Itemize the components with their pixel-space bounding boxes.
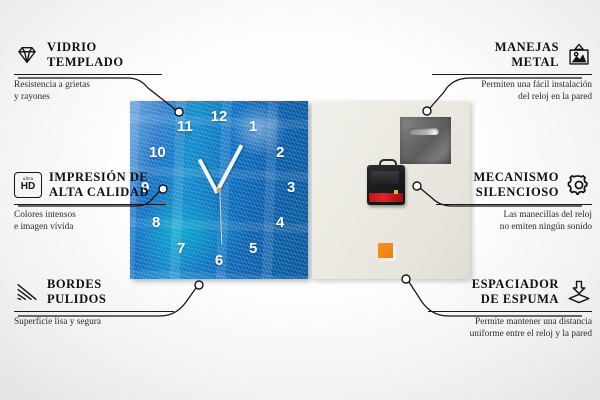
callout-silent-mechanism: MECANISMO SILENCIOSO Las manecillas del …	[436, 170, 592, 233]
callout-foam-spacer: ESPACIADOR DE ESPUMA Permite mantener un…	[428, 277, 592, 340]
clock-numeral-1: 1	[249, 119, 257, 134]
foam-spacer	[378, 243, 393, 258]
callout-divider	[14, 311, 174, 312]
callout-header: BORDES PULIDOS	[14, 277, 174, 307]
clock-numeral-4: 4	[276, 215, 284, 230]
hanging-picture-icon	[566, 42, 592, 68]
clock-center-pin	[217, 188, 222, 193]
polished-edge-lines-icon	[14, 279, 40, 305]
product-images: 12 1 2 3 4 5 6 7 8 9 10 11	[130, 101, 470, 279]
callout-divider	[428, 311, 592, 312]
movement-loop	[379, 159, 397, 169]
callout-divider	[14, 204, 166, 205]
callout-header: VIDRIO TEMPLADO	[14, 40, 162, 70]
clock-numeral-5: 5	[249, 241, 257, 256]
callout-divider	[436, 204, 592, 205]
battery	[369, 193, 403, 202]
hanger-slot	[409, 128, 439, 135]
quartz-movement	[367, 165, 405, 205]
callout-divider	[432, 74, 592, 75]
metal-hanger-icon	[400, 117, 451, 164]
callout-title: BORDES PULIDOS	[47, 277, 106, 307]
ultra-hd-badge-icon: ultra HD	[14, 172, 42, 198]
callout-divider	[14, 74, 162, 75]
clock-numeral-6: 6	[215, 253, 223, 268]
clock-numeral-12: 12	[211, 109, 228, 124]
callout-tempered-glass: VIDRIO TEMPLADO Resistencia a grietas y …	[14, 40, 162, 103]
callout-metal-hooks: MANEJAS METAL Permiten una fácil instala…	[432, 40, 592, 103]
diamond-icon	[14, 42, 40, 68]
clock-numeral-2: 2	[276, 145, 284, 160]
movement-body	[371, 171, 399, 184]
connector-dot-edges	[195, 281, 203, 289]
clock-numeral-11: 11	[177, 119, 193, 134]
callout-title: MANEJAS METAL	[495, 40, 559, 70]
callout-header: MECANISMO SILENCIOSO	[436, 170, 592, 200]
callout-polished-edges: BORDES PULIDOS Superficie lisa y segura	[14, 277, 174, 328]
callout-header: MANEJAS METAL	[432, 40, 592, 70]
callout-title: ESPACIADOR DE ESPUMA	[472, 277, 559, 307]
gear-icon	[566, 172, 592, 198]
callout-title: MECANISMO SILENCIOSO	[473, 170, 559, 200]
clock-numeral-7: 7	[177, 241, 185, 256]
callout-header: ultra HD IMPRESIÓN DE ALTA CALIDAD	[14, 170, 166, 200]
arrow-down-layer-icon	[566, 279, 592, 305]
callout-title: VIDRIO TEMPLADO	[47, 40, 124, 70]
callout-header: ESPACIADOR DE ESPUMA	[428, 277, 592, 307]
clock-numeral-3: 3	[287, 180, 295, 195]
clock-numeral-10: 10	[149, 145, 166, 160]
infographic-stage: 12 1 2 3 4 5 6 7 8 9 10 11	[0, 0, 600, 400]
callout-title: IMPRESIÓN DE ALTA CALIDAD	[49, 170, 149, 200]
callout-high-quality-print: ultra HD IMPRESIÓN DE ALTA CALIDAD Color…	[14, 170, 166, 233]
